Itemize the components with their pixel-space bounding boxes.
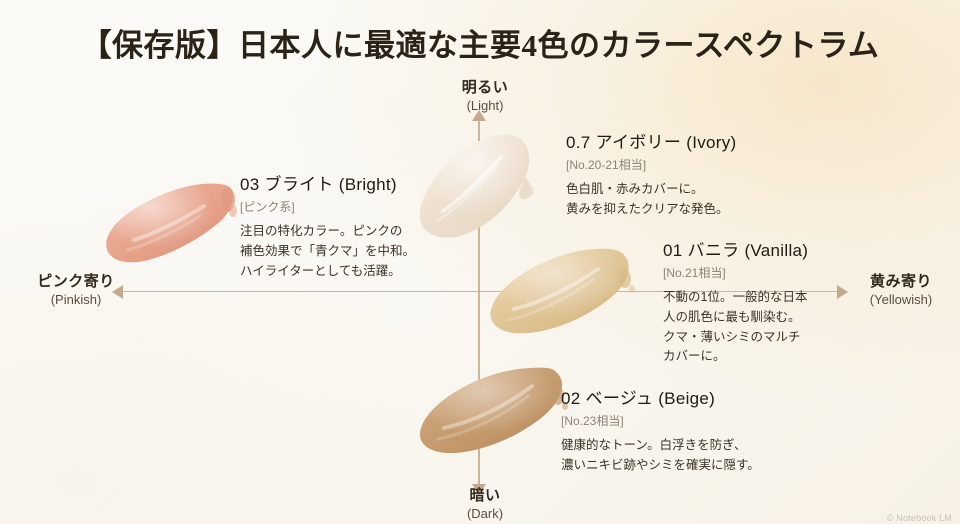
shade-code-beige: [No.23相当] <box>561 412 760 429</box>
shade-name-bright: 03 ブライト (Bright) <box>240 170 415 195</box>
shade-name-beige: 02 ベージュ (Beige) <box>561 384 760 409</box>
swatch-beige <box>418 366 570 458</box>
shade-code-ivory: [No.20-21相当] <box>566 156 737 173</box>
shade-desc-ivory-line-2: 黄みを抑えたクリアな発色。 <box>566 200 737 220</box>
shade-desc-bright-line-3: ハイライターとしても活躍。 <box>240 262 415 282</box>
info-block-ivory: 0.7 アイボリー (Ivory) [No.20-21相当] 色白肌・赤みカバー… <box>566 128 737 220</box>
shade-desc-beige: 健康的なトーン。白浮きを防ぎ、 濃いニキビ跡やシミを確実に隠す。 <box>561 436 760 476</box>
shade-desc-ivory-line-1: 色白肌・赤みカバーに。 <box>566 180 737 200</box>
shade-desc-beige-line-1: 健康的なトーン。白浮きを防ぎ、 <box>561 436 760 456</box>
shade-desc-vanilla-line-2: 人の肌色に最も馴染む。 <box>663 308 808 328</box>
color-spectrum-infographic: 【保存版】日本人に最適な主要4色のカラースペクトラム 明るい (Light) 暗… <box>0 0 960 524</box>
axis-label-pinkish: ピンク寄り (Pinkish) <box>18 273 134 308</box>
shade-name-vanilla: 01 バニラ (Vanilla) <box>663 236 808 261</box>
shade-code-vanilla: [No.21相当] <box>663 264 808 281</box>
shade-desc-bright-line-1: 注目の特化カラー。ピンクの <box>240 222 415 242</box>
shade-desc-ivory: 色白肌・赤みカバーに。 黄みを抑えたクリアな発色。 <box>566 180 737 220</box>
axis-label-yellowish: 黄み寄り (Yellowish) <box>843 273 959 308</box>
axis-label-pinkish-jp: ピンク寄り <box>18 273 134 292</box>
axis-label-yellowish-jp: 黄み寄り <box>843 273 959 292</box>
shade-desc-vanilla-line-4: カバーに。 <box>663 347 808 367</box>
shade-desc-bright: 注目の特化カラー。ピンクの 補色効果で「青クマ」を中和。 ハイライターとしても活… <box>240 222 415 281</box>
axis-label-dark: 暗い (Dark) <box>425 487 545 522</box>
info-block-bright: 03 ブライト (Bright) [ピンク系] 注目の特化カラー。ピンクの 補色… <box>240 170 415 281</box>
info-block-beige: 02 ベージュ (Beige) [No.23相当] 健康的なトーン。白浮きを防ぎ… <box>561 384 760 476</box>
shade-desc-vanilla: 不動の1位。一般的な日本 人の肌色に最も馴染む。 クマ・薄いシミのマルチ カバー… <box>663 288 808 367</box>
axis-label-yellowish-en: (Yellowish) <box>843 292 959 308</box>
swatch-bright <box>104 178 240 272</box>
shade-desc-bright-line-2: 補色効果で「青クマ」を中和。 <box>240 242 415 262</box>
axis-label-pinkish-en: (Pinkish) <box>18 292 134 308</box>
shade-desc-vanilla-line-3: クマ・薄いシミのマルチ <box>663 328 808 348</box>
swatch-ivory <box>409 133 537 245</box>
shade-code-bright: [ピンク系] <box>240 198 415 215</box>
shade-name-ivory: 0.7 アイボリー (Ivory) <box>566 128 737 153</box>
axis-label-light-jp: 明るい <box>425 79 545 98</box>
shade-desc-beige-line-2: 濃いニキビ跡やシミを確実に隠す。 <box>561 456 760 476</box>
page-title: 【保存版】日本人に最適な主要4色のカラースペクトラム <box>0 20 960 65</box>
swatch-vanilla <box>488 247 638 339</box>
watermark: © Notebook LM <box>887 513 952 523</box>
axis-label-light: 明るい (Light) <box>425 79 545 114</box>
axis-label-dark-jp: 暗い <box>425 487 545 506</box>
info-block-vanilla: 01 バニラ (Vanilla) [No.21相当] 不動の1位。一般的な日本 … <box>663 236 808 367</box>
axis-label-dark-en: (Dark) <box>425 506 545 522</box>
shade-desc-vanilla-line-1: 不動の1位。一般的な日本 <box>663 288 808 308</box>
axis-label-light-en: (Light) <box>425 98 545 114</box>
